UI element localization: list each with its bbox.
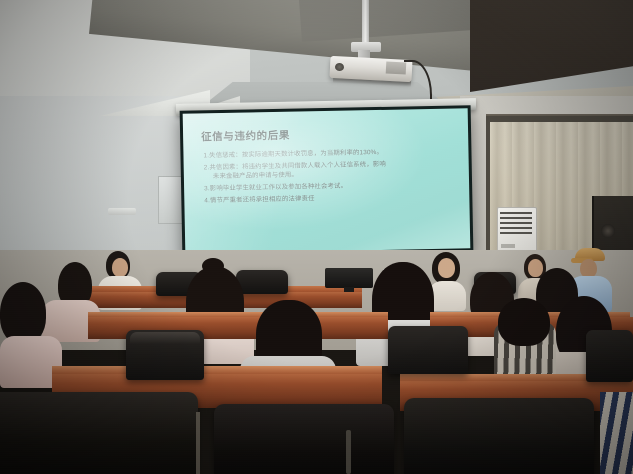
chair-foreground[interactable] (0, 392, 198, 474)
screen-sheen (183, 108, 471, 253)
chair-foreground[interactable] (404, 398, 594, 474)
chair-foreground[interactable] (214, 404, 394, 474)
chair[interactable] (586, 330, 633, 382)
projector-pole (362, 0, 369, 46)
avatar (0, 282, 46, 344)
chair[interactable] (236, 270, 288, 294)
projection-screen: 征信与违约的后果 1.失信惩戒：按实际逾期天数计收罚息，为当期利率的130%。 … (183, 108, 471, 253)
speaker-cone-icon (601, 224, 615, 238)
chair-highlight (130, 332, 200, 344)
avatar (600, 392, 633, 474)
monitor-stand (344, 287, 354, 292)
ac-logo (501, 244, 515, 248)
chair[interactable] (388, 326, 468, 374)
avatar (528, 259, 543, 277)
wall-vent (108, 208, 136, 215)
chair-leg (346, 430, 351, 474)
avatar (112, 258, 128, 277)
avatar (498, 298, 550, 346)
chair-leg (196, 412, 200, 474)
desk-monitor[interactable] (325, 268, 373, 288)
avatar-bun (202, 258, 224, 274)
ac-grill (500, 212, 532, 234)
lecture-hall-photo: 征信与违约的后果 1.失信惩戒：按实际逾期天数计收罚息，为当期利率的130%。 … (0, 0, 633, 474)
avatar (438, 258, 455, 278)
